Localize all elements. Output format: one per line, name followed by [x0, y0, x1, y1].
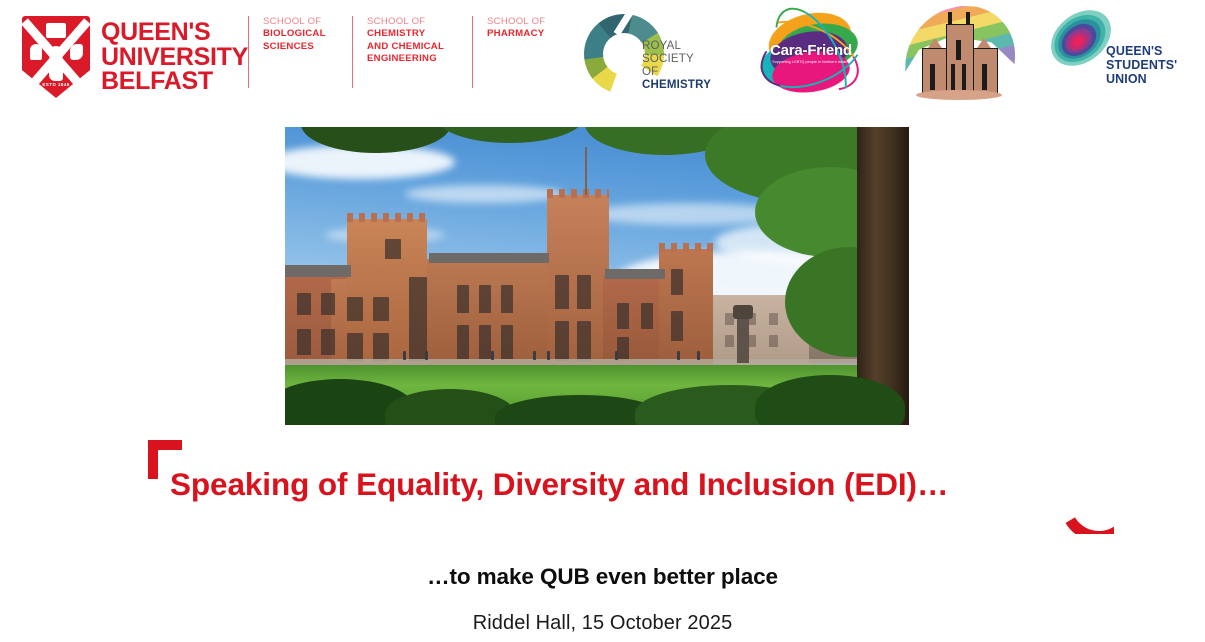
qsu-line3: UNION	[1106, 72, 1177, 86]
school-kicker: SCHOOL OF	[367, 16, 475, 28]
rsc-line1: ROYAL SOCIETY	[642, 40, 728, 66]
harp-icon	[49, 64, 63, 81]
qub-crest-icon: ESTD 1845	[22, 16, 90, 98]
battlement	[659, 243, 713, 252]
school-logo-chemistry-and-chemical-engineering: SCHOOL OF CHEMISTRY AND CHEMICAL ENGINEE…	[352, 16, 475, 88]
cathedral-base-shadow	[916, 90, 1002, 100]
school-name-line: PHARMACY	[487, 28, 583, 40]
building-window	[321, 293, 335, 315]
building-window	[577, 321, 591, 361]
school-logo-pharmacy: SCHOOL OF PHARMACY	[472, 16, 583, 88]
building-window	[373, 297, 389, 321]
cara-friend-logo: Cara-Friend Supporting LGBTQ people in N…	[752, 6, 870, 102]
cara-friend-label: Cara-Friend	[752, 42, 870, 59]
crown-icon	[49, 46, 63, 59]
qub-logo: ESTD 1845 QUEEN'S UNIVERSITY BELFAST	[22, 12, 244, 102]
building-window	[555, 321, 569, 361]
building-window	[347, 297, 363, 321]
building-window	[479, 325, 491, 359]
cara-friend-tagline: Supporting LGBTQ people in Northern Irel…	[752, 60, 870, 64]
rsc-wordmark: ROYAL SOCIETY OF CHEMISTRY	[642, 40, 728, 92]
building-window	[373, 333, 389, 361]
building-window	[347, 333, 363, 361]
battlement	[547, 189, 609, 198]
building-window	[479, 285, 491, 313]
school-kicker: SCHOOL OF	[263, 16, 355, 28]
building-window	[671, 269, 683, 295]
rsc-line2: OF CHEMISTRY	[642, 66, 728, 92]
pedestrian	[697, 351, 700, 360]
royal-society-of-chemistry-logo: ROYAL SOCIETY OF CHEMISTRY	[580, 8, 728, 100]
building-window	[321, 329, 335, 355]
war-memorial-statue	[737, 317, 749, 363]
red-hand-icon	[30, 44, 42, 60]
cathedral-window	[982, 64, 987, 90]
seahorse-icon	[70, 44, 83, 60]
lanyon-tower-right	[659, 249, 713, 369]
building-window	[385, 239, 401, 259]
roof	[605, 269, 665, 279]
building-window	[501, 325, 513, 359]
school-kicker: SCHOOL OF	[487, 16, 583, 28]
building-window	[457, 325, 469, 359]
qub-wordmark-line3: BELFAST	[101, 69, 248, 94]
school-logo-biological-sciences: SCHOOL OF BIOLOGICAL SCIENCES	[248, 16, 355, 88]
school-name-line: CHEMISTRY	[367, 28, 475, 40]
roof	[285, 265, 351, 277]
cathedral-window	[951, 64, 955, 90]
school-name-line: SCIENCES	[263, 41, 355, 53]
qsu-wordmark: QUEEN'S STUDENTS' UNION	[1106, 44, 1177, 86]
cathedral-window	[956, 40, 961, 60]
building-window	[769, 313, 778, 325]
belfast-pride-cathedral-logo	[900, 2, 1020, 106]
flagpole	[585, 147, 587, 195]
lanyon-building-photo	[285, 127, 909, 425]
open-book-icon	[46, 23, 66, 38]
building-window	[671, 311, 683, 341]
rsc-line2-prefix: OF	[642, 66, 658, 78]
qub-wordmark: QUEEN'S UNIVERSITY BELFAST	[101, 20, 248, 94]
building-window	[577, 275, 591, 309]
pedestrian	[615, 351, 618, 360]
rsc-line2-bold: CHEMISTRY	[642, 79, 711, 91]
pedestrian	[491, 351, 494, 360]
page-title: Speaking of Equality, Diversity and Incl…	[170, 466, 1090, 503]
building-window	[769, 335, 778, 347]
school-name-line: AND CHEMICAL	[367, 41, 475, 53]
school-name-line: ENGINEERING	[367, 53, 475, 65]
cathedral-window	[962, 64, 966, 90]
page-subtitle: …to make QUB even better place	[0, 564, 1205, 590]
queens-students-union-logo: QUEEN'S STUDENTS' UNION	[1046, 8, 1198, 104]
building-window	[641, 303, 653, 329]
building-window	[457, 285, 469, 313]
quote-arc-icon	[1062, 482, 1114, 534]
pedestrian	[533, 351, 536, 360]
qub-wordmark-line1: QUEEN'S	[101, 20, 248, 45]
event-venue-and-date: Riddel Hall, 15 October 2025	[0, 612, 1205, 635]
building-window	[409, 277, 427, 361]
school-name-line: BIOLOGICAL	[263, 28, 355, 40]
pedestrian	[403, 351, 406, 360]
pedestrian	[547, 351, 550, 360]
building-window	[297, 329, 311, 355]
qsu-line1: QUEEN'S	[1106, 44, 1177, 58]
bracket-vertical	[148, 440, 158, 479]
roof	[429, 253, 549, 263]
building-window	[501, 285, 513, 313]
cathedral-wing-left	[922, 48, 949, 94]
pedestrian	[677, 351, 680, 360]
building-window	[617, 303, 629, 329]
battlement	[347, 213, 427, 222]
building-window	[617, 337, 629, 361]
arc-stroke	[1062, 482, 1114, 534]
crest-motto: ESTD 1845	[22, 82, 90, 87]
cloud	[405, 185, 565, 203]
building-window	[725, 335, 734, 347]
cathedral-window	[930, 64, 935, 90]
qsu-line2: STUDENTS'	[1106, 58, 1177, 72]
building-window	[555, 275, 569, 309]
logo-bar: ESTD 1845 QUEEN'S UNIVERSITY BELFAST SCH…	[0, 0, 1205, 112]
qub-wordmark-line2: UNIVERSITY	[101, 45, 248, 70]
building-window	[297, 293, 311, 315]
pedestrian	[425, 351, 428, 360]
